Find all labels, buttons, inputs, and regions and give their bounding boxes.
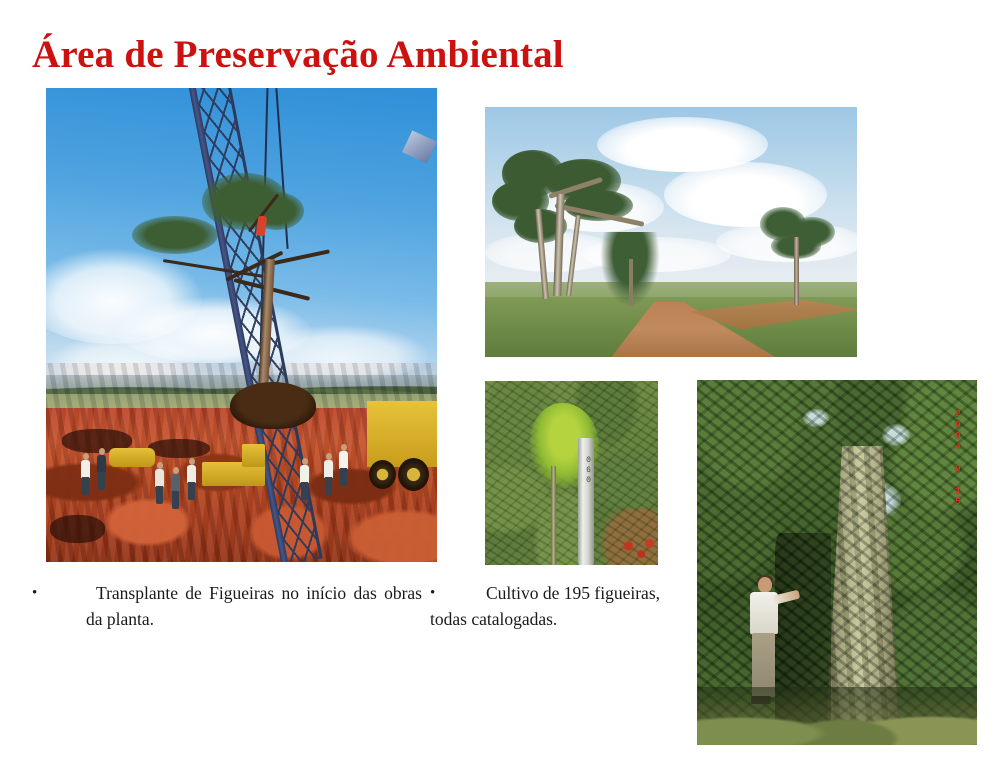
worker-head — [302, 458, 308, 465]
photo-muda-catalogada: 060 — [485, 381, 658, 565]
sapling-stem — [551, 466, 556, 565]
excavation-pit — [148, 439, 211, 458]
worker-figure — [339, 444, 348, 486]
worker-head — [83, 453, 89, 460]
tree-trunk — [566, 215, 581, 296]
caption-cultivo-line2: todas catalogadas. — [430, 606, 702, 632]
photo-transplante-scene — [46, 88, 437, 562]
excavation-pit — [50, 515, 105, 543]
worker-head — [99, 448, 105, 455]
tree-trunk — [794, 237, 799, 305]
worker-head — [326, 453, 332, 460]
worker-figure — [324, 453, 333, 495]
worker-head — [189, 458, 195, 465]
red-foliage-accent — [617, 536, 655, 562]
worker-legs — [82, 477, 89, 495]
caption-transplante-text: Transplante de Figueiras no início das o… — [86, 580, 422, 632]
worker-figure — [155, 462, 164, 504]
worker-figure — [171, 467, 180, 509]
worker-head — [341, 444, 347, 451]
worker-figure — [187, 458, 196, 500]
tree-trunk — [553, 193, 565, 296]
bullet-marker: • — [32, 580, 37, 606]
worker-legs — [156, 486, 163, 504]
worker-legs — [325, 477, 332, 495]
photo-date-stamp: 2004 9 15 — [953, 409, 963, 508]
crane-machine-body — [367, 401, 437, 467]
worker-torso — [97, 455, 106, 473]
worker-head — [173, 467, 179, 474]
page-title: Área de Preservação Ambiental — [32, 32, 564, 78]
bullet-marker: • — [430, 580, 435, 606]
worker-torso — [155, 469, 164, 487]
worker-head — [157, 462, 163, 469]
photo-muda-scene: 060 — [485, 381, 658, 565]
worker-figure — [300, 458, 309, 500]
worker-torso — [300, 465, 309, 483]
loader — [109, 448, 156, 467]
marker-post-number: 060 — [581, 456, 593, 486]
worker-legs — [172, 491, 179, 509]
photo-figueira-adulta: 2004 9 15 — [697, 380, 977, 745]
worker-torso — [339, 451, 348, 469]
caption-transplante: • Transplante de Figueiras no início das… — [32, 580, 422, 632]
worker-torso — [324, 460, 333, 478]
person-figure — [745, 577, 793, 701]
worker-figure — [97, 448, 106, 490]
worker-torso — [171, 474, 180, 492]
worker-legs — [98, 472, 105, 490]
crane-wheel — [398, 458, 429, 491]
photo-figueira-adulta-scene: 2004 9 15 — [697, 380, 977, 745]
caption-cultivo-line1: Cultivo de 195 figueiras, — [486, 583, 660, 603]
slide-canvas: Área de Preservação Ambiental — [0, 0, 1000, 762]
worker-legs — [340, 468, 347, 486]
person-head — [758, 577, 772, 593]
worker-torso — [81, 460, 90, 478]
photo-figueiras-campo — [485, 107, 857, 357]
fig-tree-large — [492, 147, 648, 302]
photo-transplante-figueira — [46, 88, 437, 562]
worker-figure — [81, 453, 90, 495]
worker-torso — [187, 465, 196, 483]
caption-cultivo-text: Cultivo de 195 figueiras, todas cataloga… — [478, 580, 702, 632]
forest-floor — [697, 687, 977, 745]
tree-canopy — [132, 216, 218, 254]
worker-legs — [188, 482, 195, 500]
bulldozer-cab — [242, 444, 265, 468]
worker-legs — [301, 482, 308, 500]
photo-figueiras-campo-scene — [485, 107, 857, 357]
fig-tree-right — [753, 207, 842, 307]
caption-cultivo: • Cultivo de 195 figueiras, todas catalo… — [430, 580, 702, 632]
tree-rootball — [230, 382, 316, 429]
